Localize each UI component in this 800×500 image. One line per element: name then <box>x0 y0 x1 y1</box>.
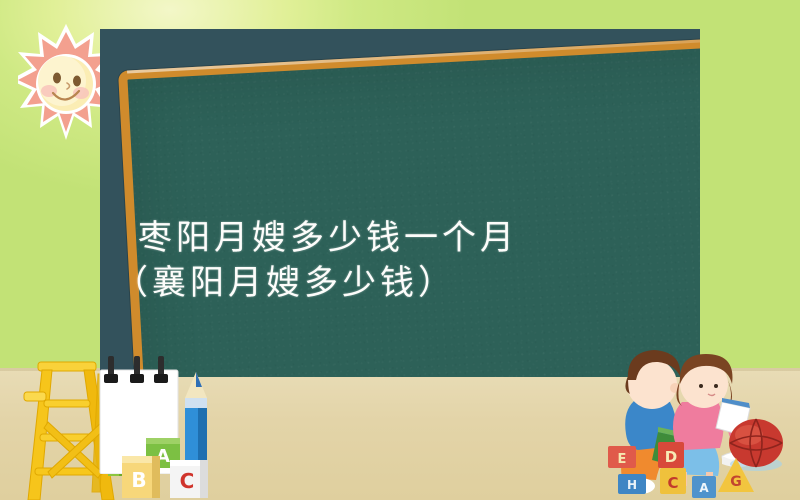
svg-text:B: B <box>131 468 146 492</box>
svg-text:H: H <box>627 478 637 492</box>
svg-text:A: A <box>699 481 709 495</box>
svg-text:C: C <box>667 474 678 492</box>
alphabet-blocks-right: E H D C A G <box>608 440 768 500</box>
illustration-canvas: 枣阳月嫂多少钱一个月 （襄阳月嫂多少钱） <box>0 0 800 500</box>
svg-text:C: C <box>180 469 195 493</box>
chalkboard-text-layer: 枣阳月嫂多少钱一个月 （襄阳月嫂多少钱） <box>100 29 700 377</box>
chalk-title-line-2: （襄阳月嫂多少钱） <box>114 255 456 304</box>
svg-text:D: D <box>665 448 677 466</box>
chalk-title-line-1: 枣阳月嫂多少钱一个月 <box>138 210 518 259</box>
svg-text:E: E <box>618 452 627 467</box>
svg-text:G: G <box>730 474 742 490</box>
alphabet-blocks-left: A B C <box>118 438 218 500</box>
